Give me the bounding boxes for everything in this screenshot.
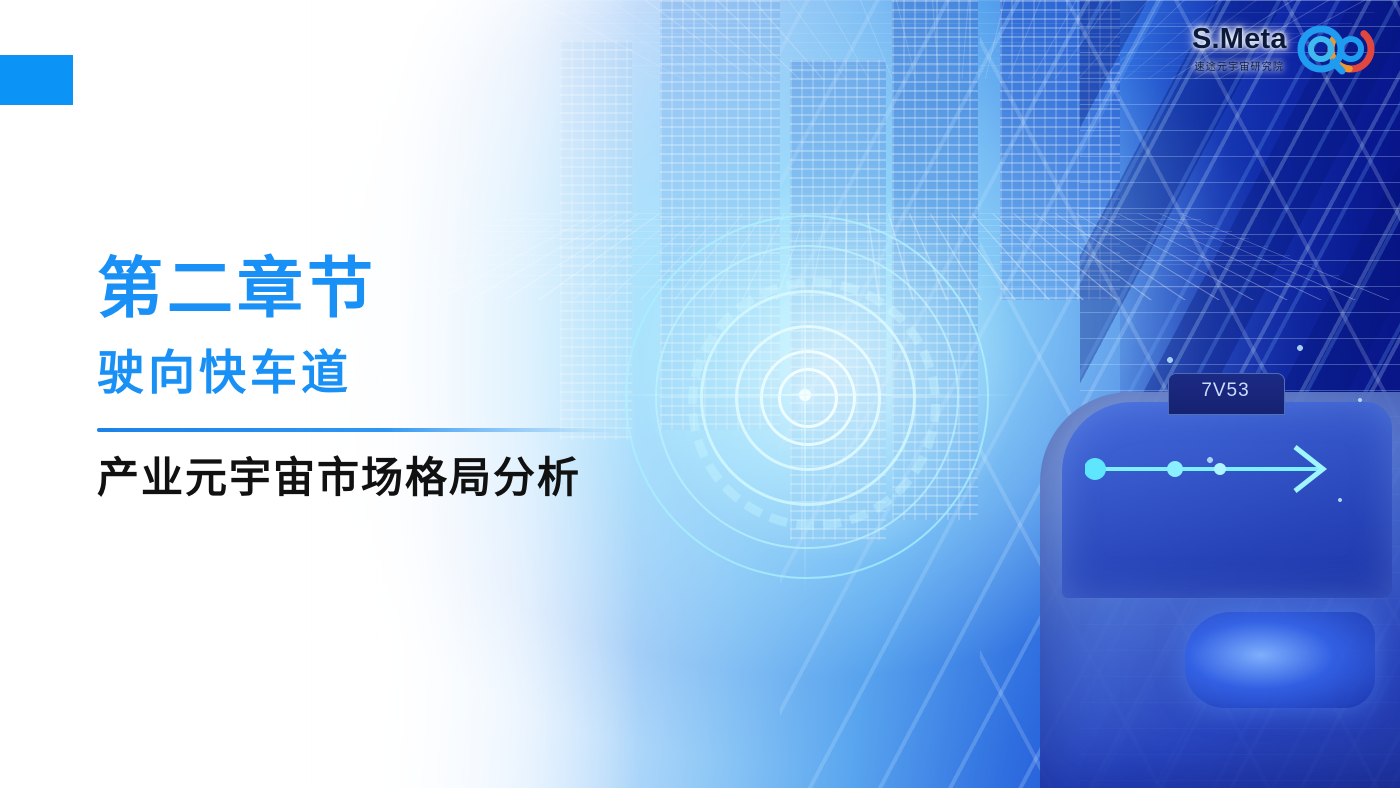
smeta-logo[interactable]: S.Meta 速途元宇宙研究院: [1192, 18, 1390, 80]
car-roof-sign-label: 7V53: [1168, 380, 1283, 402]
logo-wordmark: S.Meta: [1192, 25, 1287, 54]
car-body: [1040, 392, 1400, 788]
car-headlight: [1185, 612, 1375, 708]
building-block: [1000, 0, 1120, 300]
logo-subtitle: 速途元宇宙研究院: [1195, 58, 1285, 73]
chapter-title: 第二章节: [97, 255, 797, 322]
smeta-double-ring-logo-icon: [1293, 22, 1379, 76]
logo-text-column: S.Meta 速途元宇宙研究院: [1192, 25, 1287, 73]
title-divider-rule: [97, 428, 622, 432]
car-windshield: [1062, 402, 1392, 598]
hud-node-dots: [1150, 340, 1400, 560]
slide-root: 7V53 S.Meta 速途元宇宙研究院: [0, 0, 1400, 788]
title-block: 第二章节 驶向快车道 产业元宇宙市场格局分析: [97, 255, 797, 501]
chapter-subtitle: 产业元宇宙市场格局分析: [97, 455, 797, 501]
corner-accent-block: [0, 55, 73, 105]
chapter-headline: 驶向快车道: [97, 348, 797, 397]
hud-arrow-overlay: [1085, 435, 1345, 505]
